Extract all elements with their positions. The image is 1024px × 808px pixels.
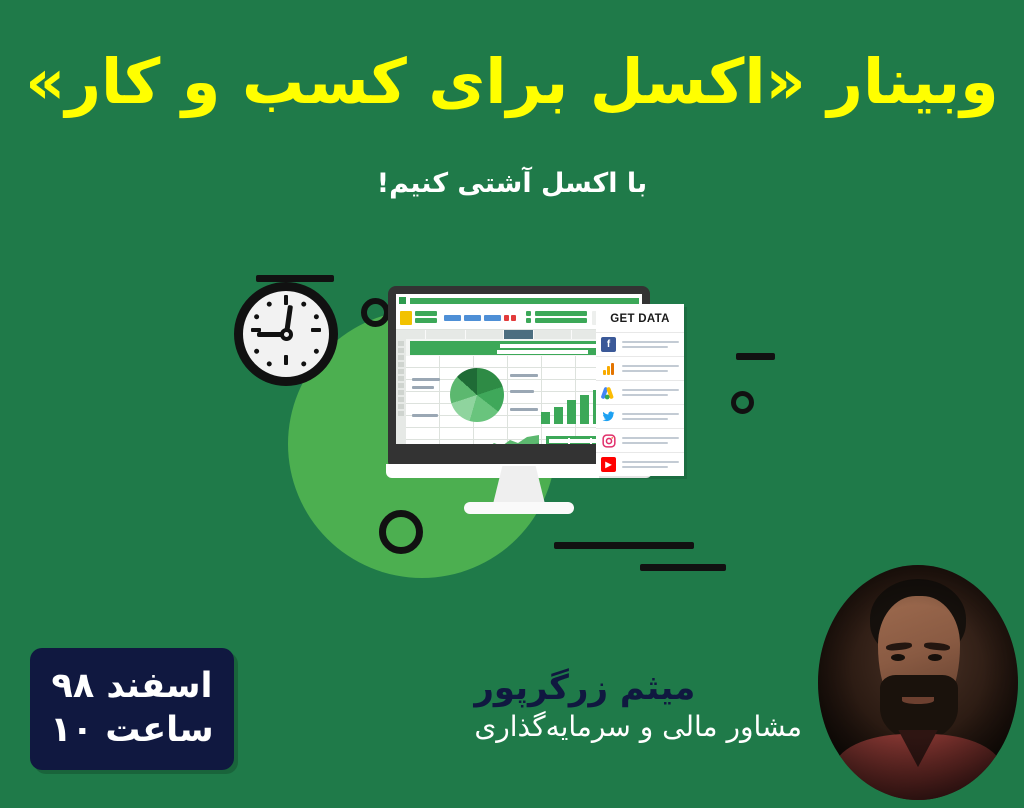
speaker-role: مشاور مالی و سرمایه‌گذاری — [474, 709, 802, 744]
get-data-row-youtube[interactable]: ▶ — [596, 452, 684, 476]
decorative-dash-top-left — [256, 275, 334, 282]
clock-icon — [234, 282, 338, 386]
instagram-icon — [601, 433, 616, 448]
get-data-row-twitter[interactable] — [596, 404, 684, 428]
row-placeholder-lines — [622, 411, 679, 423]
date-time-badge: اسفند ۹۸ ساعت ۱۰ — [30, 648, 234, 770]
page-subtitle: با اکسل آشتی کنیم! — [0, 168, 1024, 199]
facebook-icon: f — [601, 337, 616, 352]
spreadsheet-row-headers — [396, 339, 406, 444]
badge-date-line: اسفند ۹۸ — [51, 665, 212, 709]
row-placeholder-lines — [622, 387, 679, 399]
decorative-dash-bottom-2 — [640, 564, 726, 571]
row-placeholder-lines — [622, 363, 679, 375]
youtube-icon: ▶ — [601, 457, 616, 472]
google-analytics-icon — [601, 361, 616, 376]
speaker-block: میثم زرگرپور مشاور مالی و سرمایه‌گذاری — [474, 668, 802, 744]
portrait-vignette — [818, 565, 1018, 800]
twitter-icon — [601, 409, 616, 424]
get-data-title: GET DATA — [596, 304, 684, 332]
decorative-dash-right — [736, 353, 775, 360]
decorative-dash-bottom-1 — [554, 542, 694, 549]
row-placeholder-lines — [622, 459, 679, 471]
speaker-name: میثم زرگرپور — [474, 668, 802, 709]
get-data-card: GET DATA f — [596, 304, 684, 476]
decorative-ring-small-top — [361, 298, 390, 327]
get-data-row-google-analytics[interactable] — [596, 356, 684, 380]
get-data-row-google-ads[interactable] — [596, 380, 684, 404]
row-placeholder-lines — [622, 339, 679, 351]
app-logo-icon — [399, 297, 406, 304]
row-placeholder-lines — [622, 435, 679, 447]
decorative-ring-large-bottom — [379, 510, 423, 554]
page-title: وبینار «اکسل برای کسب و کار» — [0, 46, 1024, 117]
speaker-portrait-avatar — [818, 565, 1018, 800]
selected-column-header — [504, 330, 534, 339]
pie-chart — [450, 368, 504, 422]
monitor-stand-base — [464, 502, 574, 514]
get-data-row-facebook[interactable]: f — [596, 332, 684, 356]
area-chart — [436, 434, 539, 444]
decorative-ring-small-right — [731, 391, 754, 414]
clock-center-pivot — [280, 328, 293, 341]
illustration: GET DATA f — [228, 262, 748, 582]
webinar-poster: وبینار «اکسل برای کسب و کار» با اکسل آشت… — [0, 0, 1024, 808]
badge-time-line: ساعت ۱۰ — [50, 709, 213, 753]
google-ads-icon — [601, 385, 616, 400]
get-data-row-instagram[interactable] — [596, 428, 684, 452]
